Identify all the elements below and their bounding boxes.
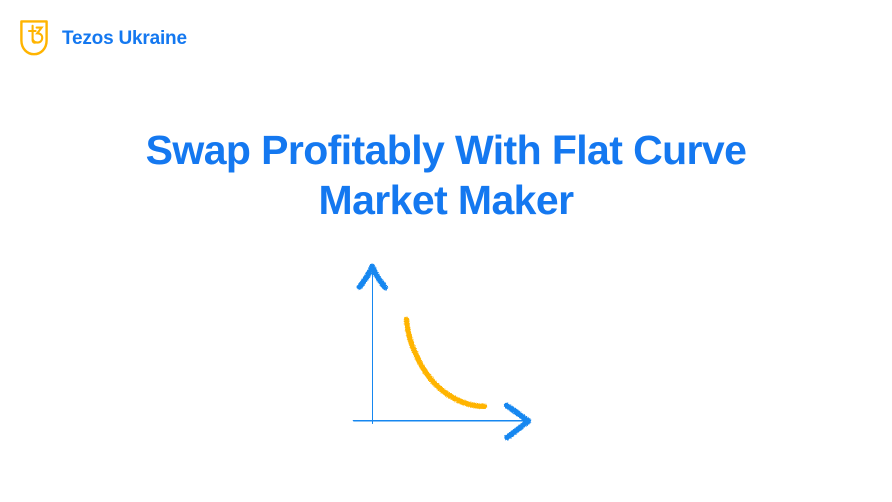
brand-lockup: Tezos Ukraine [18,18,187,58]
page-title-line-1: Swap Profitably With Flat Curve [60,125,832,175]
slide-canvas: Tezos Ukraine Swap Profitably With Flat … [0,0,892,502]
page-title: Swap Profitably With Flat Curve Market M… [0,125,892,225]
page-title-line-2: Market Maker [60,175,832,225]
tezos-shield-icon [18,18,50,58]
flat-curve-illustration [340,248,550,448]
x-axis [356,421,523,422]
flat-curve-line [407,320,485,407]
brand-name: Tezos Ukraine [62,29,187,48]
